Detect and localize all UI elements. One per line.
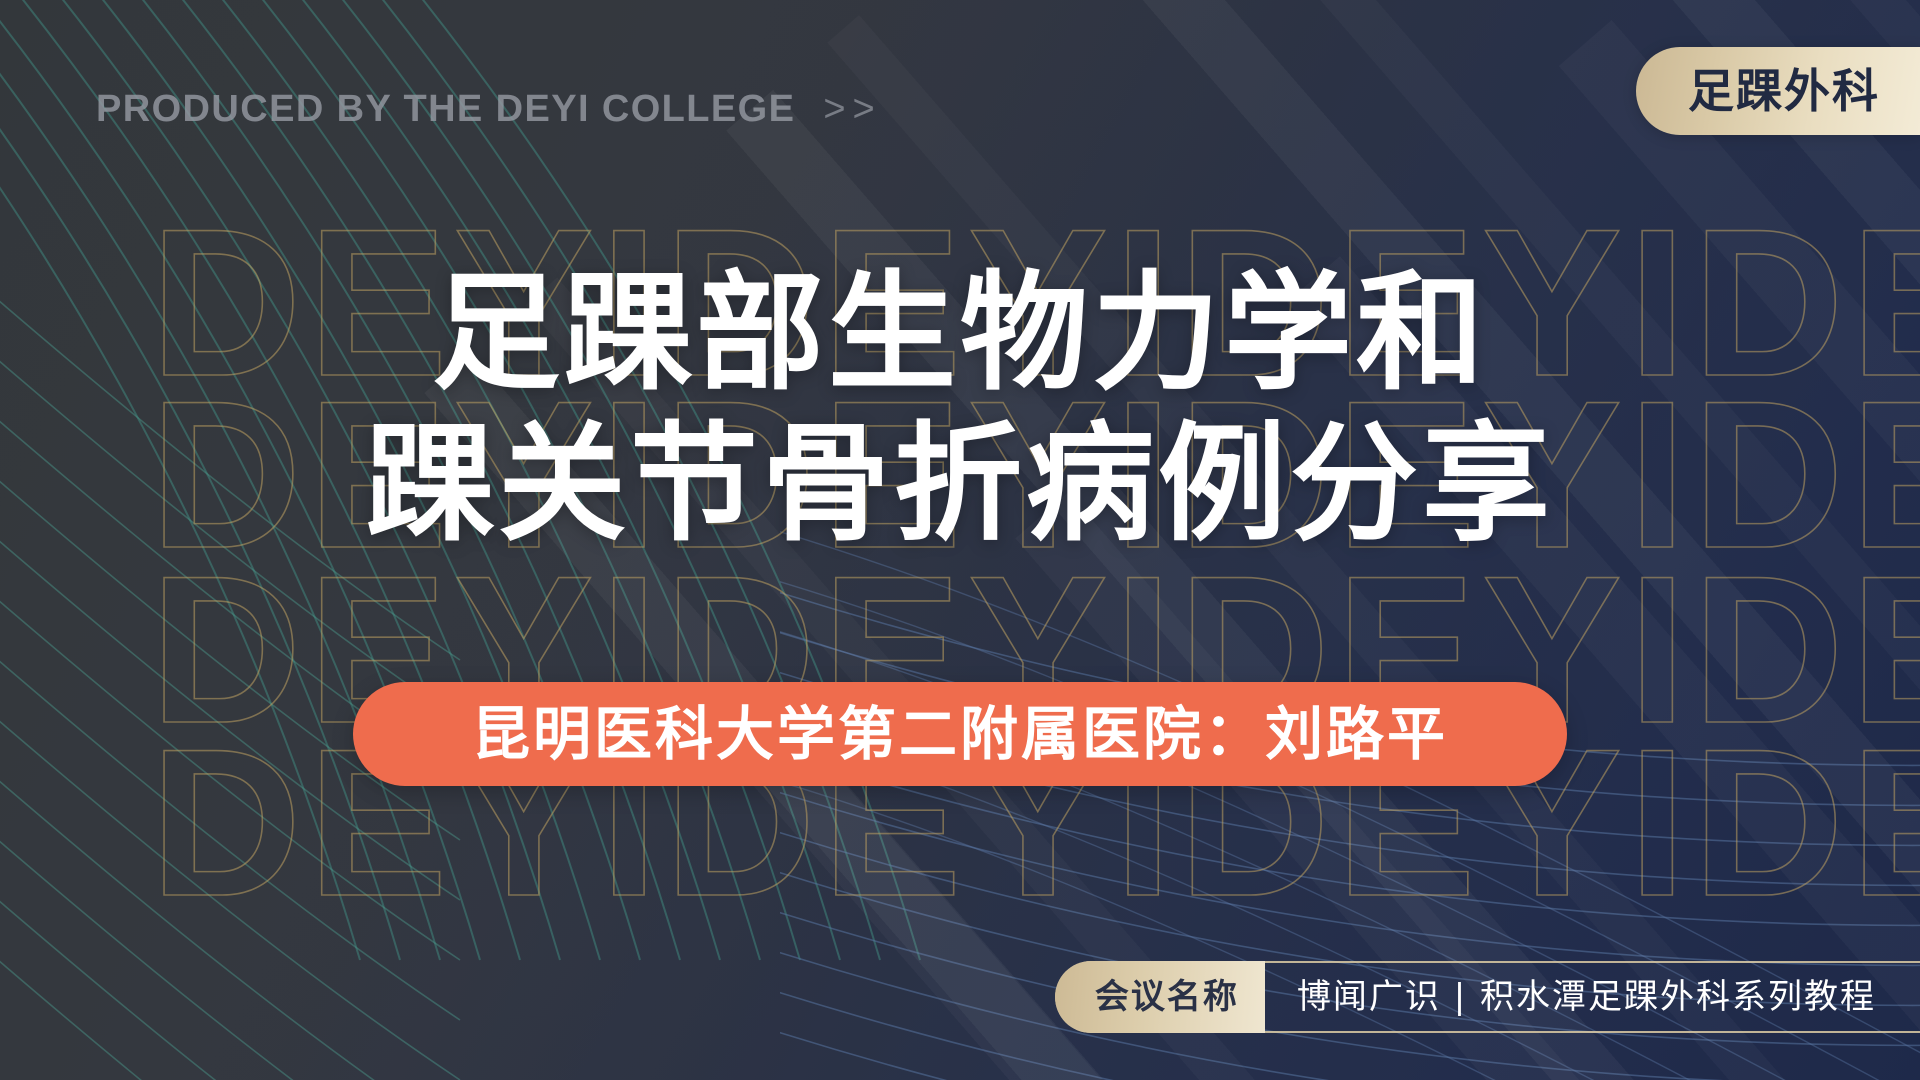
produced-by-line: PRODUCED BY THE DEYI COLLEGE >> (96, 88, 882, 131)
meeting-name-value-area: 博闻广识 | 积水潭足踝外科系列教程 (1265, 961, 1920, 1033)
department-badge-label: 足踝外科 (1688, 68, 1880, 114)
meeting-name-value: 博闻广识 | 积水潭足踝外科系列教程 (1297, 980, 1876, 1014)
double-chevron-right-icon: >> (823, 88, 881, 131)
presentation-title-slide: DEYIDEYIDEYIDEYI DEYIDEYIDEYIDEYI DEYIDE… (0, 0, 1920, 1080)
meeting-name-bar: 会议名称 博闻广识 | 积水潭足踝外科系列教程 (1055, 961, 1920, 1033)
speaker-pill: 昆明医科大学第二附属医院：刘路平 (353, 682, 1567, 786)
speaker-pill-text: 昆明医科大学第二附属医院：刘路平 (472, 705, 1448, 763)
produced-by-text: PRODUCED BY THE DEYI COLLEGE (96, 88, 795, 131)
meeting-name-label: 会议名称 (1095, 980, 1239, 1014)
department-badge: 足踝外科 (1636, 47, 1920, 135)
background-navy-wash (0, 0, 1920, 1080)
meeting-name-label-chip: 会议名称 (1055, 961, 1265, 1033)
